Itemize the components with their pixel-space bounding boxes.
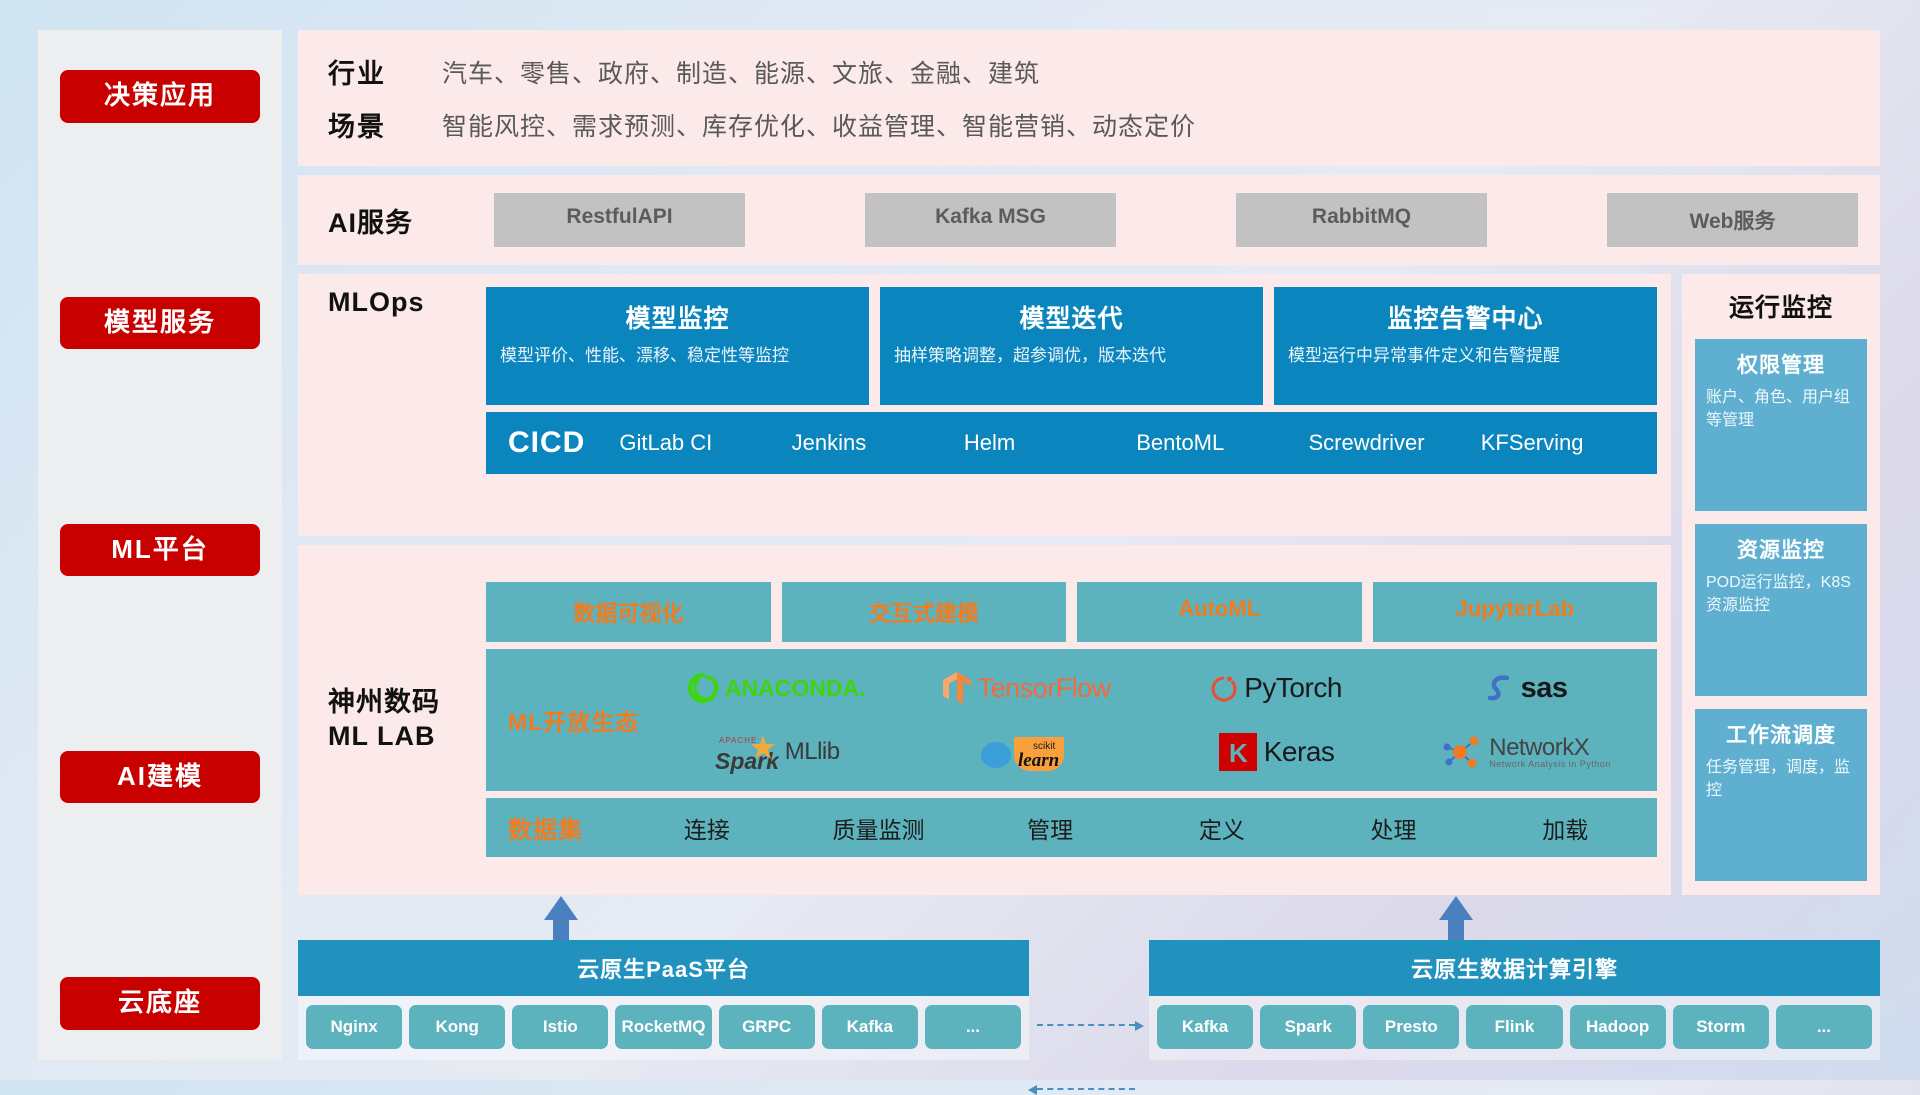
industry-values: 汽车、零售、政府、制造、能源、文旅、金融、建筑	[442, 54, 1040, 90]
spark-mllib-logo-text: MLlib	[785, 738, 840, 766]
cicd-item-screwdriver[interactable]: Screwdriver	[1308, 431, 1472, 455]
networkx-mark-icon	[1441, 732, 1483, 772]
monitor-card-title: 权限管理	[1706, 349, 1856, 379]
spark-mark-icon: APACHE Spark	[713, 729, 779, 775]
ml-ecosystem-label: ML开放生态	[508, 703, 639, 737]
sas-logo: sas	[1485, 672, 1568, 705]
ai-service-restfulapi[interactable]: RestfulAPI	[494, 193, 745, 247]
mlops-card-title: 模型监控	[500, 299, 855, 335]
sas-mark-icon	[1485, 672, 1515, 704]
paas-chip-nginx[interactable]: Nginx	[306, 1005, 402, 1049]
platform-row: MLOps 模型监控 模型评价、性能、漂移、稳定性等监控 模型迭代 抽样策略调整…	[298, 274, 1880, 895]
anaconda-logo-text: ANACONDA.	[725, 675, 866, 702]
dataset-item-connect[interactable]: 连接	[625, 811, 789, 845]
ml-lab-label: 神州数码 ML LAB	[328, 686, 468, 754]
engine-chips: Kafka Spark Presto Flink Hadoop Storm ..…	[1149, 996, 1880, 1060]
dataset-item-manage[interactable]: 管理	[968, 811, 1132, 845]
ml-lab-band: 神州数码 ML LAB 数据可视化 交互式建模 AutoML JupyterLa…	[298, 545, 1671, 895]
spark-mllib-logo: APACHE Spark MLlib	[713, 729, 840, 775]
paas-group: 云原生PaaS平台 Nginx Kong Istio RocketMQ GRPC…	[298, 940, 1029, 1060]
paas-chips: Nginx Kong Istio RocketMQ GRPC Kafka ...	[298, 996, 1029, 1060]
pytorch-logo-text: PyTorch	[1244, 672, 1342, 704]
paas-chip-kafka[interactable]: Kafka	[822, 1005, 918, 1049]
engine-chip-storm[interactable]: Storm	[1673, 1005, 1769, 1049]
tensorflow-logo: TensorFlow	[942, 671, 1111, 705]
dataset-item-define[interactable]: 定义	[1140, 811, 1304, 845]
scene-row: 场景 智能风控、需求预测、库存优化、收益管理、智能营销、动态定价	[328, 105, 1860, 144]
dataset-item-load[interactable]: 加载	[1483, 811, 1647, 845]
dataset-bar: 数据集 连接 质量监测 管理 定义 处理 加载	[486, 798, 1657, 857]
paas-chip-istio[interactable]: Istio	[512, 1005, 608, 1049]
engine-group: 云原生数据计算引擎 Kafka Spark Presto Flink Hadoo…	[1149, 940, 1880, 1060]
industry-label: 行业	[328, 52, 402, 91]
mlops-card-model-iteration[interactable]: 模型迭代 抽样策略调整，超参调优，版本迭代	[880, 287, 1263, 405]
mlops-card-title: 模型迭代	[894, 299, 1249, 335]
ai-service-kafka-msg[interactable]: Kafka MSG	[865, 193, 1116, 247]
tab-jupyterlab[interactable]: JupyterLab	[1373, 582, 1658, 642]
rail-item-ai-modeling[interactable]: AI建模	[60, 751, 260, 804]
mlops-card-model-monitor[interactable]: 模型监控 模型评价、性能、漂移、稳定性等监控	[486, 287, 869, 405]
left-rail: 决策应用 模型服务 ML平台 AI建模 云底座	[38, 30, 282, 1060]
tab-automl[interactable]: AutoML	[1077, 582, 1362, 642]
mlops-band: MLOps 模型监控 模型评价、性能、漂移、稳定性等监控 模型迭代 抽样策略调整…	[298, 274, 1671, 536]
cicd-bar: CICD GitLab CI Jenkins Helm BentoML Scre…	[486, 412, 1657, 474]
dataset-item-process[interactable]: 处理	[1312, 811, 1476, 845]
rail-spacer-1	[60, 123, 260, 297]
tensorflow-mark-icon	[942, 671, 972, 705]
engine-chip-presto[interactable]: Presto	[1363, 1005, 1459, 1049]
rail-item-decision-app[interactable]: 决策应用	[60, 70, 260, 123]
monitor-card-desc: 账户、角色、用户组等管理	[1706, 386, 1856, 432]
ml-lab-tabs: 数据可视化 交互式建模 AutoML JupyterLab	[486, 582, 1657, 642]
cicd-item-jenkins[interactable]: Jenkins	[792, 431, 956, 455]
pytorch-mark-icon	[1210, 672, 1238, 704]
sas-logo-text: sas	[1521, 672, 1568, 705]
ai-service-rabbitmq[interactable]: RabbitMQ	[1236, 193, 1487, 247]
svg-text:learn: learn	[1018, 750, 1059, 771]
cloud-foundation-row: 云原生PaaS平台 Nginx Kong Istio RocketMQ GRPC…	[298, 906, 1880, 1060]
paas-chip-grpc[interactable]: GRPC	[719, 1005, 815, 1049]
cloud-link-arrows	[1029, 940, 1149, 1060]
svg-text:Spark: Spark	[715, 748, 779, 774]
rail-item-ml-platform[interactable]: ML平台	[60, 524, 260, 577]
monitor-card-desc: POD运行监控，K8S资源监控	[1706, 571, 1856, 617]
rail-spacer-2	[60, 349, 260, 523]
networkx-logo-text: NetworkX	[1489, 736, 1611, 760]
paas-chip-more[interactable]: ...	[925, 1005, 1021, 1049]
mlops-card-desc: 模型运行中异常事件定义和告警提醒	[1288, 344, 1643, 369]
ml-lab-label-line2: ML LAB	[328, 720, 468, 754]
paas-title: 云原生PaaS平台	[298, 940, 1029, 996]
tab-data-visualization[interactable]: 数据可视化	[486, 582, 771, 642]
keras-logo: K Keras	[1218, 732, 1335, 772]
ai-service-label: AI服务	[328, 201, 468, 240]
ml-ecosystem-logos: ANACONDA. TensorFlow	[655, 657, 1647, 783]
rail-spacer-4	[60, 803, 260, 977]
ml-lab-body: 数据可视化 交互式建模 AutoML JupyterLab ML开放生态	[486, 582, 1657, 857]
monitor-card-title: 资源监控	[1706, 534, 1856, 564]
keras-mark-icon: K	[1218, 732, 1258, 772]
scikit-learn-mark-icon: scikit learn	[980, 729, 1072, 775]
cicd-item-helm[interactable]: Helm	[964, 431, 1128, 455]
tab-interactive-modeling[interactable]: 交互式建模	[782, 582, 1067, 642]
monitor-card-title: 工作流调度	[1706, 719, 1856, 749]
cicd-item-kfserving[interactable]: KFServing	[1481, 431, 1645, 455]
ai-service-band: AI服务 RestfulAPI Kafka MSG RabbitMQ Web服务	[298, 175, 1880, 265]
scene-values: 智能风控、需求预测、库存优化、收益管理、智能营销、动态定价	[442, 107, 1196, 143]
monitor-card-permission[interactable]: 权限管理 账户、角色、用户组等管理	[1695, 339, 1867, 511]
dataset-item-quality[interactable]: 质量监测	[797, 811, 961, 845]
decision-app-band: 行业 汽车、零售、政府、制造、能源、文旅、金融、建筑 场景 智能风控、需求预测、…	[298, 30, 1880, 166]
tensorflow-logo-text: TensorFlow	[978, 673, 1111, 704]
pytorch-logo: PyTorch	[1210, 672, 1342, 704]
monitor-card-workflow[interactable]: 工作流调度 任务管理，调度，监控	[1695, 709, 1867, 881]
anaconda-mark-icon	[687, 672, 719, 704]
architecture-diagram: 决策应用 模型服务 ML平台 AI建模 云底座 行业 汽车、零售、政府、制造、能…	[0, 0, 1920, 1080]
engine-chip-hadoop[interactable]: Hadoop	[1570, 1005, 1666, 1049]
rail-item-model-service[interactable]: 模型服务	[60, 297, 260, 350]
paas-chip-kong[interactable]: Kong	[409, 1005, 505, 1049]
rail-item-cloud-base[interactable]: 云底座	[60, 977, 260, 1030]
cicd-item-bentoml[interactable]: BentoML	[1136, 431, 1300, 455]
link-arrow-right-icon	[1037, 1024, 1135, 1026]
svg-text:APACHE: APACHE	[719, 736, 757, 745]
platform-left-stack: MLOps 模型监控 模型评价、性能、漂移、稳定性等监控 模型迭代 抽样策略调整…	[298, 274, 1671, 895]
link-arrow-left-icon	[1037, 1088, 1135, 1090]
mlops-card-alert-center[interactable]: 监控告警中心 模型运行中异常事件定义和告警提醒	[1274, 287, 1657, 405]
mlops-card-desc: 抽样策略调整，超参调优，版本迭代	[894, 344, 1249, 369]
anaconda-logo: ANACONDA.	[687, 672, 866, 704]
keras-logo-text: Keras	[1264, 736, 1335, 768]
scikit-learn-logo: scikit learn	[980, 729, 1072, 775]
engine-chip-spark[interactable]: Spark	[1260, 1005, 1356, 1049]
scene-label: 场景	[328, 105, 402, 144]
mlops-body: 模型监控 模型评价、性能、漂移、稳定性等监控 模型迭代 抽样策略调整，超参调优，…	[486, 287, 1657, 523]
industry-row: 行业 汽车、零售、政府、制造、能源、文旅、金融、建筑	[328, 52, 1860, 91]
mlops-cards: 模型监控 模型评价、性能、漂移、稳定性等监控 模型迭代 抽样策略调整，超参调优，…	[486, 287, 1657, 405]
networkx-logo: NetworkX Network Analysis in Python	[1441, 732, 1611, 772]
cicd-item-gitlab-ci[interactable]: GitLab CI	[619, 431, 783, 455]
engine-chip-flink[interactable]: Flink	[1466, 1005, 1562, 1049]
paas-chip-rocketmq[interactable]: RocketMQ	[615, 1005, 711, 1049]
ai-service-web[interactable]: Web服务	[1607, 193, 1858, 247]
runtime-monitor-title: 运行监控	[1695, 288, 1867, 324]
ml-ecosystem-panel: ML开放生态 ANACONDA.	[486, 649, 1657, 791]
dataset-title: 数据集	[508, 810, 583, 845]
networkx-logo-tagline: Network Analysis in Python	[1489, 760, 1611, 769]
ml-lab-label-line1: 神州数码	[328, 686, 468, 720]
rail-spacer-3	[60, 576, 260, 750]
svg-text:K: K	[1229, 738, 1248, 768]
runtime-monitor-panel: 运行监控 权限管理 账户、角色、用户组等管理 资源监控 POD运行监控，K8S资…	[1682, 274, 1880, 895]
monitor-card-desc: 任务管理，调度，监控	[1706, 756, 1856, 802]
main-content: 行业 汽车、零售、政府、制造、能源、文旅、金融、建筑 场景 智能风控、需求预测、…	[298, 30, 1880, 1060]
mlops-card-title: 监控告警中心	[1288, 299, 1643, 335]
mlops-card-desc: 模型评价、性能、漂移、稳定性等监控	[500, 344, 855, 369]
monitor-card-resource[interactable]: 资源监控 POD运行监控，K8S资源监控	[1695, 524, 1867, 696]
engine-chip-kafka[interactable]: Kafka	[1157, 1005, 1253, 1049]
cicd-title: CICD	[508, 426, 585, 460]
ai-service-items: RestfulAPI Kafka MSG RabbitMQ Web服务	[494, 193, 1858, 247]
engine-chip-more[interactable]: ...	[1776, 1005, 1872, 1049]
mlops-label: MLOps	[328, 287, 468, 523]
engine-title: 云原生数据计算引擎	[1149, 940, 1880, 996]
